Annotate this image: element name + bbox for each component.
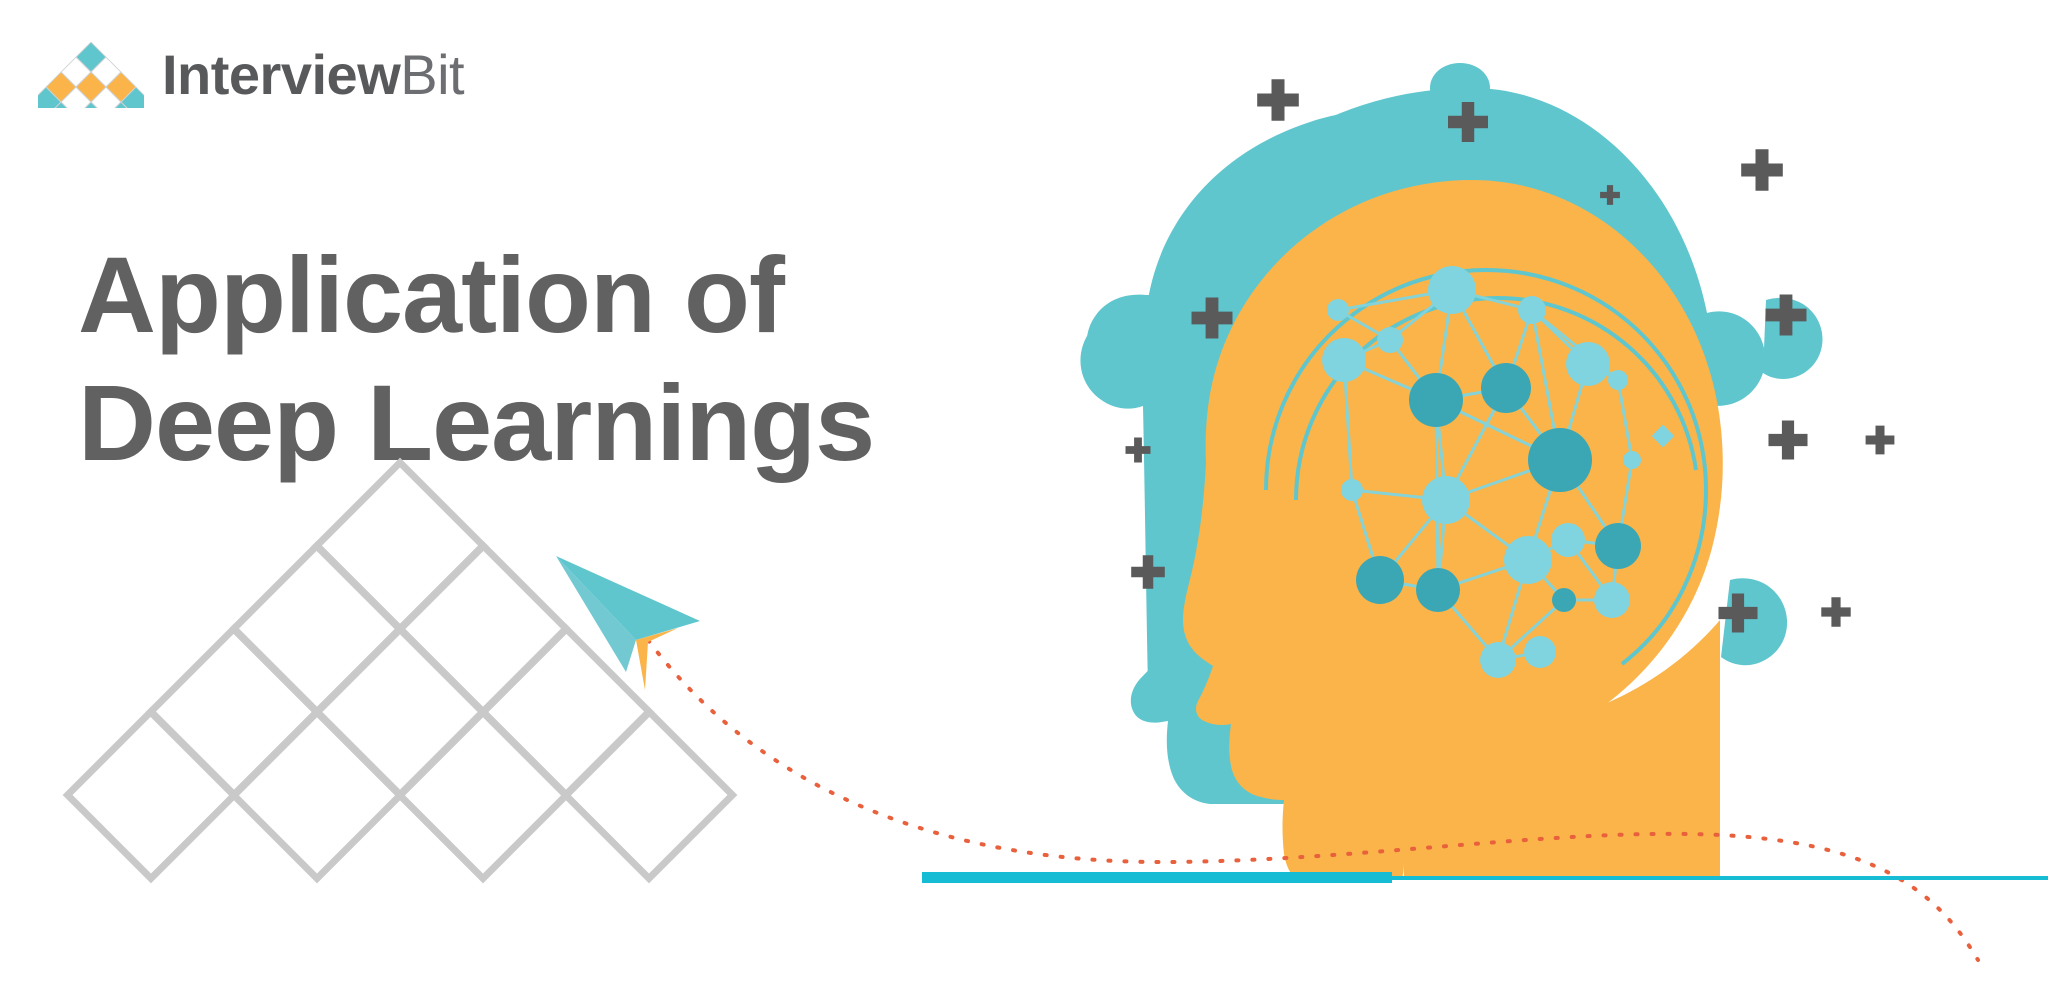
head-teal-dome (1080, 88, 1765, 688)
head-right-lower-bump (1721, 578, 1787, 665)
head-lower-mass (1290, 620, 1720, 878)
diamond-lattice-grid-icon (68, 463, 733, 879)
horizontal-rule-icon (922, 872, 2048, 883)
wordmark-bit: Bit (400, 43, 464, 106)
dotted-flight-path-icon (648, 640, 1978, 960)
headline-line-2: Deep Learnings (78, 359, 838, 486)
neural-network-icon (1338, 290, 1632, 660)
banner-canvas: InterviewBit Application of Deep Learnin… (0, 0, 2048, 1000)
illustration-artwork (0, 0, 2048, 1000)
paper-plane-lower-wing (556, 556, 636, 672)
page-title: Application of Deep Learnings (78, 231, 838, 486)
human-head-profile-icon (1080, 63, 1822, 878)
neural-network-nodes (1322, 266, 1674, 678)
head-orange-face (1183, 180, 1723, 878)
brand-logo[interactable]: InterviewBit (38, 42, 464, 108)
headline-line-1: Application of (78, 231, 838, 358)
head-top-bump (1430, 63, 1490, 110)
paper-plane-icon (556, 556, 700, 690)
interviewbit-diamond-logo-icon (38, 42, 144, 108)
head-neck (1404, 640, 1718, 878)
plus-sign-decoration-icon (1126, 79, 1895, 632)
head-teal-backing (1087, 87, 1720, 804)
wordmark-interview: Interview (162, 43, 400, 106)
brain-contour-inner (1296, 298, 1696, 500)
paper-plane-upper-wing (556, 556, 700, 640)
head-right-ear-bump (1763, 298, 1822, 379)
brain-contour-outer (1266, 270, 1706, 664)
brand-wordmark: InterviewBit (162, 47, 464, 103)
paper-plane-fin (636, 628, 678, 690)
head-left-ear-bump (1124, 298, 1183, 379)
